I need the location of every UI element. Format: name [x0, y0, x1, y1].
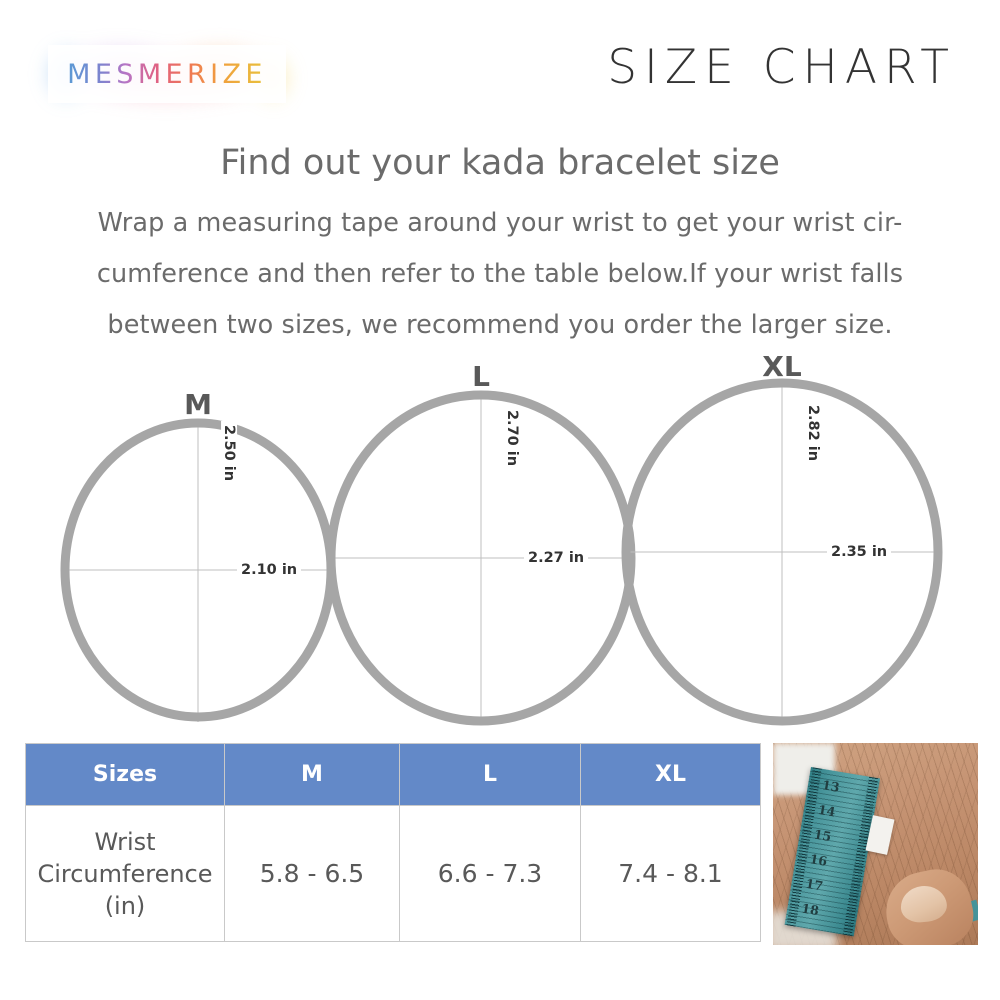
page-title: SIZE CHART: [607, 40, 956, 95]
intro-line-2: cumference and then refer to the table b…: [50, 249, 950, 300]
tape-number-15: 15: [813, 827, 833, 845]
tape-number-18: 18: [800, 900, 820, 918]
cell-m-range: 5.8 - 6.5: [225, 806, 400, 942]
tape-number-13: 13: [821, 777, 841, 795]
dimension-width-xl: 2.35 in: [827, 544, 891, 560]
size-label-m: M: [184, 388, 212, 421]
row-label-wrist-circumference: Wrist Circumference (in): [26, 806, 225, 942]
wrist-measurement-photo: 13 14 15 16 17 18: [773, 743, 978, 945]
dimension-width-m: 2.10 in: [237, 562, 301, 578]
thumbnail: [899, 884, 949, 925]
table-header-l: L: [400, 744, 581, 806]
size-label-l: L: [472, 360, 490, 393]
logo-box: MESMERIZE: [48, 45, 286, 103]
intro-heading: Find out your kada bracelet size: [0, 143, 1000, 183]
table-header-sizes: Sizes: [26, 744, 225, 806]
tape-number-17: 17: [805, 876, 825, 894]
size-chart-page: MESMERIZE SIZE CHART Find out your kada …: [0, 0, 1000, 1000]
logo-text: MESMERIZE: [67, 59, 267, 90]
size-table: Sizes M L XL Wrist Circumference (in) 5.…: [25, 743, 761, 942]
cell-xl-range: 7.4 - 8.1: [581, 806, 761, 942]
size-label-xl: XL: [762, 350, 801, 383]
intro-line-1: Wrap a measuring tape around your wrist …: [50, 198, 950, 249]
intro-paragraph: Wrap a measuring tape around your wrist …: [50, 198, 950, 351]
dimension-height-xl: 2.82 in: [805, 401, 821, 465]
table-header-m: M: [225, 744, 400, 806]
dimension-width-l: 2.27 in: [524, 550, 588, 566]
brand-logo: MESMERIZE: [48, 45, 286, 103]
table-header-row: Sizes M L XL: [26, 744, 761, 806]
dimension-height-m: 2.50 in: [221, 421, 237, 485]
tape-number-14: 14: [817, 802, 837, 820]
cell-l-range: 6.6 - 7.3: [400, 806, 581, 942]
table-row: Wrist Circumference (in) 5.8 - 6.5 6.6 -…: [26, 806, 761, 942]
dimension-height-l: 2.70 in: [504, 406, 520, 470]
tape-number-16: 16: [809, 851, 829, 869]
table-header-xl: XL: [581, 744, 761, 806]
intro-line-3: between two sizes, we recommend you orde…: [50, 300, 950, 351]
